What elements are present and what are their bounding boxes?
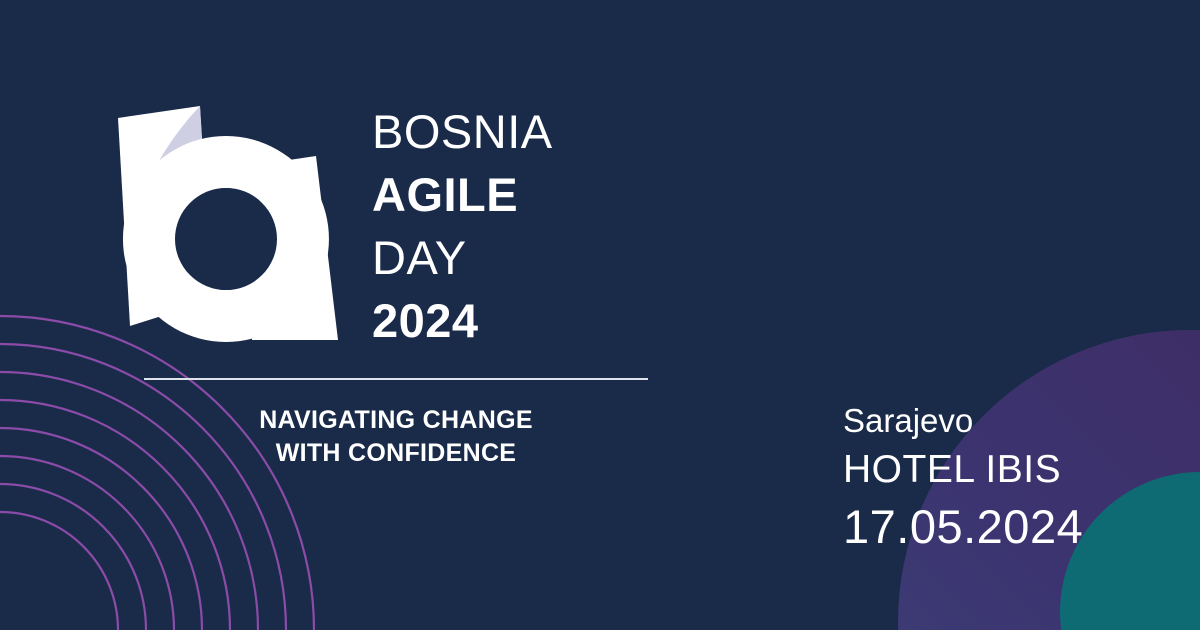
wordmark-line-agile: AGILE xyxy=(372,171,553,218)
logo-donut-hole xyxy=(175,188,277,290)
wordmark: BOSNIA AGILE DAY 2024 xyxy=(372,108,553,344)
poster-content: BOSNIA AGILE DAY 2024 NAVIGATING CHANGE … xyxy=(0,0,1200,630)
wordmark-line-bosnia: BOSNIA xyxy=(372,108,553,155)
tagline-line-1: NAVIGATING CHANGE xyxy=(144,404,648,437)
venue-block: Sarajevo HOTEL IBIS 17.05.2024 xyxy=(843,404,1083,550)
venue-city: Sarajevo xyxy=(843,404,1083,437)
ba-monogram-icon xyxy=(112,104,344,342)
tagline-line-2: WITH CONFIDENCE xyxy=(144,437,648,470)
event-date: 17.05.2024 xyxy=(843,503,1083,550)
divider-rule xyxy=(144,378,648,380)
wordmark-line-day: DAY xyxy=(372,234,553,281)
venue-place: HOTEL IBIS xyxy=(843,450,1083,489)
tagline: NAVIGATING CHANGE WITH CONFIDENCE xyxy=(144,404,648,471)
wordmark-line-year: 2024 xyxy=(372,297,553,344)
logo-lockup: BOSNIA AGILE DAY 2024 xyxy=(112,104,553,344)
poster-canvas: BOSNIA AGILE DAY 2024 NAVIGATING CHANGE … xyxy=(0,0,1200,630)
